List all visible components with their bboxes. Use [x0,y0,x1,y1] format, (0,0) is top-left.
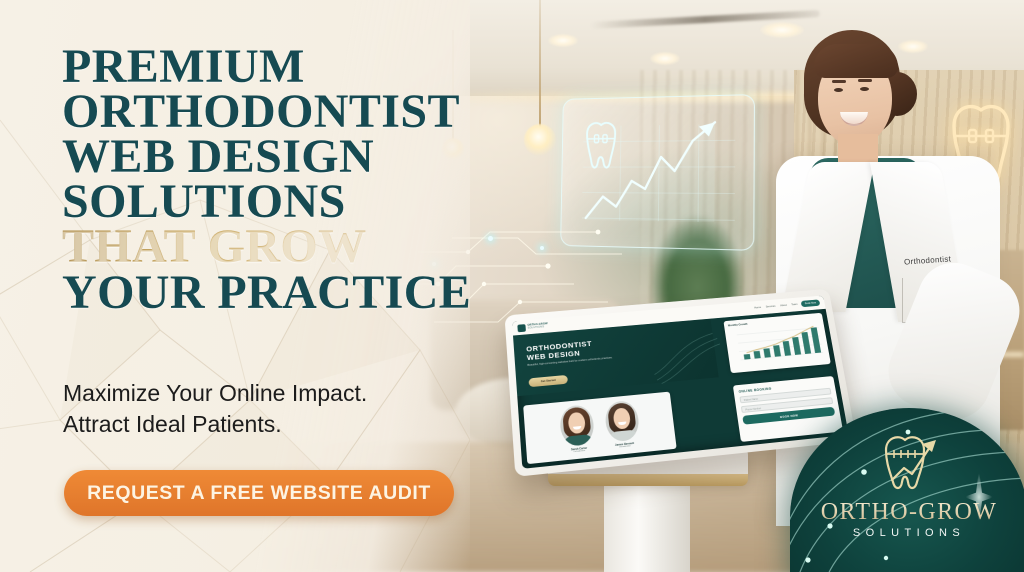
brand-tagline: SOLUTIONS [790,527,1024,539]
site-menu-item-home[interactable]: Home [754,306,761,309]
eye [834,88,843,92]
tooth-braces-icon [587,123,616,168]
subheading-line-2: Attract Ideal Patients. [63,409,483,440]
rising-line-chart-arrow-icon [586,122,715,222]
brand-badge: ORTHO-GROW SOLUTIONS [790,408,1024,572]
avatar [604,400,641,443]
headline-line-1: PREMIUM [62,44,492,89]
marketing-banner: Orthodontist ORTHO-GROW SOLUTIONS [0,0,1024,572]
team-member[interactable]: Sarah Carter Orthodontist [559,404,597,460]
site-logo-mark-icon [517,324,526,332]
site-hero-button[interactable]: Get Started [528,375,568,387]
site-menu-item-team[interactable]: Team [791,303,798,306]
headline-line-6: YOUR PRACTICE [62,270,492,315]
site-menu: Home Services About Team [754,303,798,309]
brand-name: ORTHO-GROW [790,499,1024,526]
downlight-icon [650,52,680,65]
site-team-card: Sarah Carter Orthodontist James Bennett … [523,392,677,465]
glow-dot [540,246,544,250]
avatar [559,404,596,447]
site-menu-item-services[interactable]: Services [766,305,776,309]
site-growth-chart [728,321,825,366]
headline-line-3: WEB DESIGN [62,134,492,179]
tooth-braces-growth-arrow-icon [874,430,944,492]
eyebrow [858,79,872,82]
eye [860,87,869,91]
headline-line-5-gold: THAT GROW [62,224,492,269]
hair-fringe [814,44,898,78]
kiosk-gold-trim [548,474,748,486]
subheading-line-1: Maximize Your Online Impact. [63,378,483,409]
hero-decor-lines [649,322,725,384]
site-menu-item-about[interactable]: About [780,304,787,307]
brand-logo: ORTHO-GROW SOLUTIONS [790,430,1024,539]
subheading: Maximize Your Online Impact. Attract Ide… [63,378,483,441]
body [609,429,639,442]
downlight-icon [548,34,578,47]
site-nav-cta-button[interactable]: Book Now [801,300,820,307]
request-free-website-audit-button[interactable]: REQUEST A FREE WEBSITE AUDIT [64,470,454,516]
site-logo[interactable]: ORTHO-GROW SOLUTIONS [517,322,548,332]
site-logo-line2: SOLUTIONS [528,326,548,330]
headline-line-2: ORTHODONTIST [62,89,492,134]
body [563,434,593,447]
site-chart-card: Monthly Growth [723,313,830,373]
eyebrow [832,80,846,83]
pendant-cord [539,0,541,128]
page-title: PREMIUM ORTHODONTIST WEB DESIGN SOLUTION… [62,44,492,315]
team-member[interactable]: James Bennett Orthodontist [604,400,642,456]
headline-line-4: SOLUTIONS [62,179,492,224]
pendant-bulb-icon [524,124,556,156]
